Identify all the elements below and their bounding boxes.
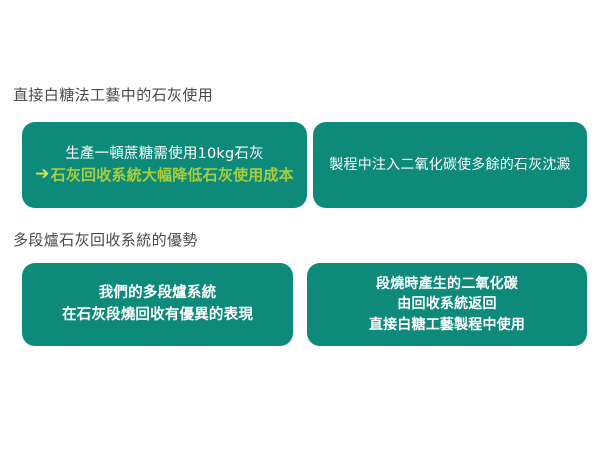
section-heading-lime-usage: 直接白糖法工藝中的石灰使用: [13, 88, 213, 103]
section-heading-msf-advantages: 多段爐石灰回收系統的優勢: [13, 233, 198, 248]
card-co2-injection: 製程中注入二氧化碳使多餘的石灰沈澱: [313, 122, 587, 208]
card-line-lime-recovery-benefit: ➔ 石灰回收系統大幅降低石灰使用成本: [35, 165, 294, 187]
card-line-co2-returned: 由回收系統返回: [397, 294, 496, 314]
card-co2-return: 段燒時產生的二氧化碳 由回收系統返回 直接白糖工藝製程中使用: [307, 263, 587, 346]
card-line-msf-recovery-performance: 在石灰段燒回收有優異的表現: [62, 305, 253, 326]
card-line-co2-injection: 製程中注入二氧化碳使多餘的石灰沈澱: [329, 155, 570, 175]
card-msf-performance: 我們的多段爐系統 在石灰段燒回收有優異的表現: [22, 263, 293, 346]
card-lime-usage: 生產一頓蔗糖需使用10kg石灰 ➔ 石灰回收系統大幅降低石灰使用成本: [22, 122, 307, 208]
card-line-lime-consumption: 生產一頓蔗糖需使用10kg石灰: [65, 144, 264, 165]
card-line-co2-generated: 段燒時產生的二氧化碳: [376, 274, 518, 294]
slide-canvas: 直接白糖法工藝中的石灰使用 生產一頓蔗糖需使用10kg石灰 ➔ 石灰回收系統大幅…: [0, 0, 600, 450]
card-line-co2-reused: 直接白糖工藝製程中使用: [369, 315, 525, 335]
card-line-msf-system: 我們的多段爐系統: [99, 283, 217, 304]
card-line-lime-recovery-benefit-text: 石灰回收系統大幅降低石灰使用成本: [51, 165, 294, 187]
arrow-right-icon: ➔: [35, 166, 49, 183]
